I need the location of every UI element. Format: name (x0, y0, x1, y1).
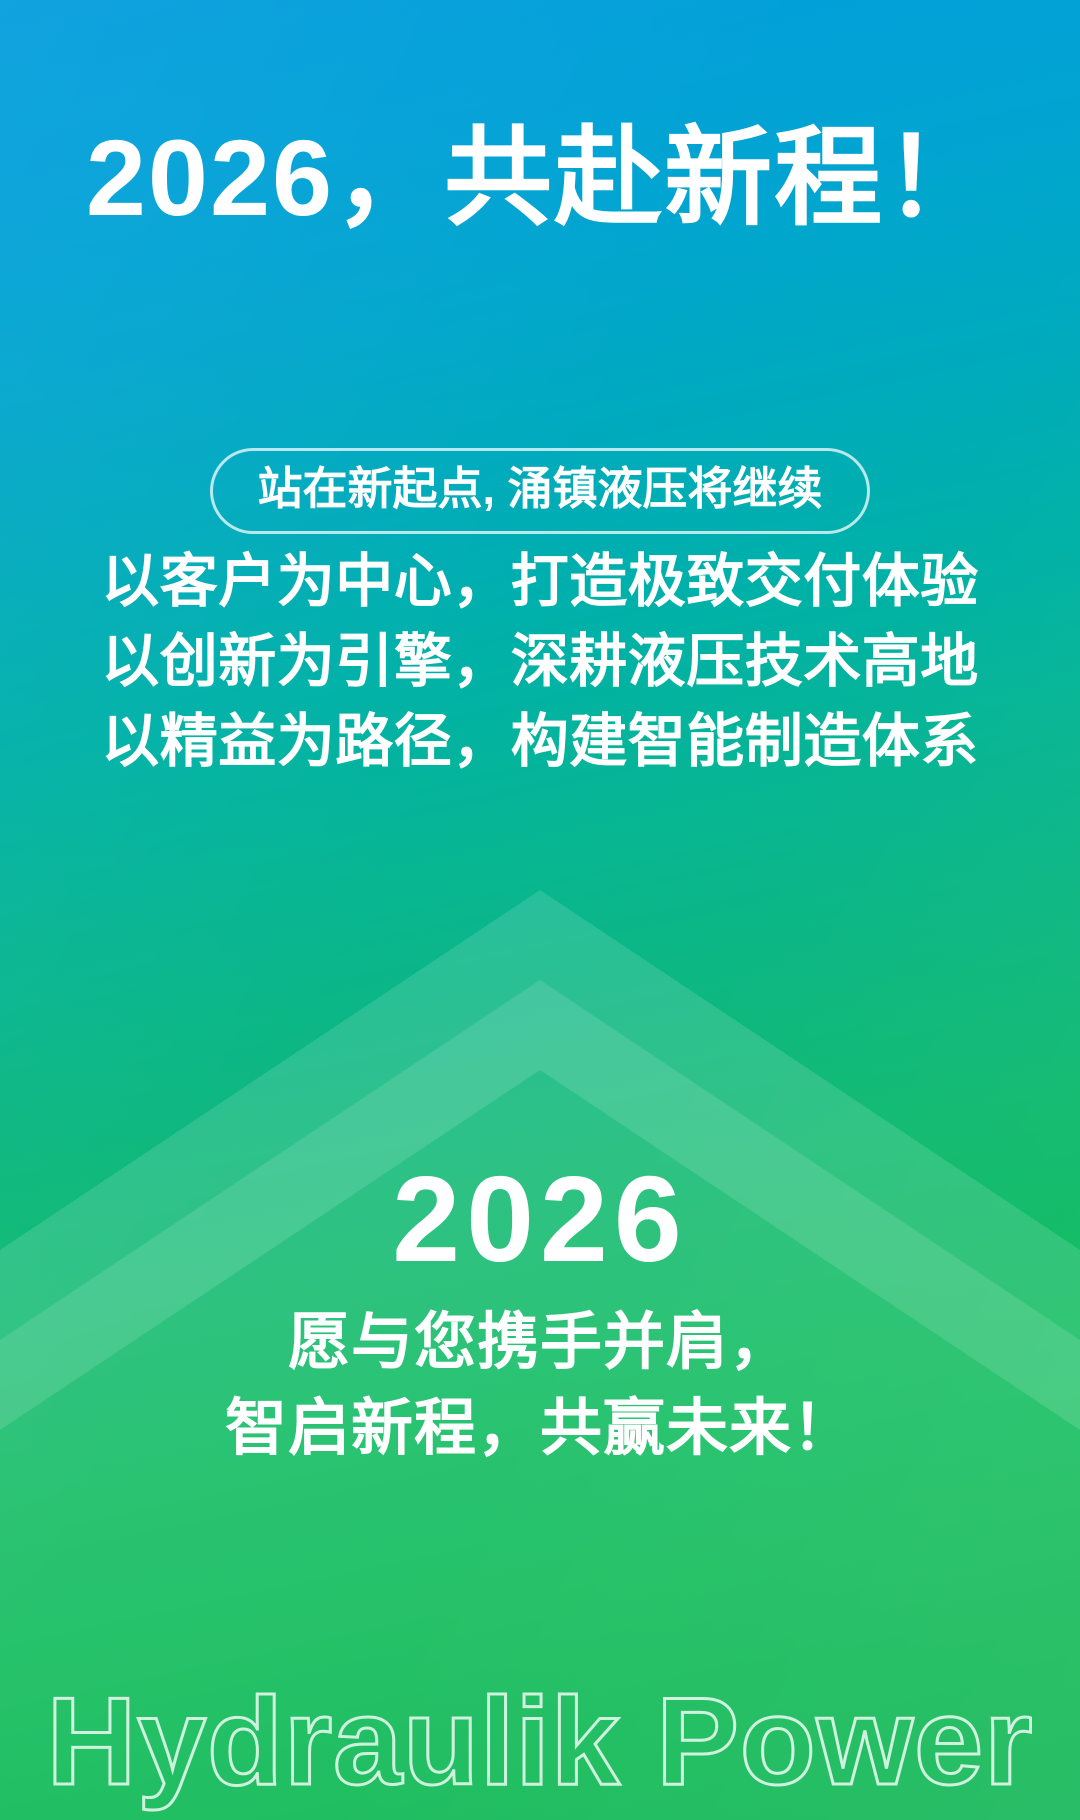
badge-container: 站在新起点, 涌镇液压将继续 (0, 448, 1080, 534)
chevron-decoration (0, 0, 1080, 1820)
page-title: 2026，共赴新程！ (0, 118, 1080, 239)
year-heading: 2026 (0, 1158, 1080, 1280)
tagline-item: 以创新为引擎，深耕液压技术高地 (0, 622, 1080, 702)
tagline-item: 以客户为中心，打造极致交付体验 (0, 542, 1080, 622)
wish-line: 智启新程，共赢未来！ (0, 1386, 1080, 1472)
poster-canvas: 2026，共赴新程！ 站在新起点, 涌镇液压将继续 以客户为中心，打造极致交付体… (0, 0, 1080, 1820)
tagline-list: 以客户为中心，打造极致交付体验 以创新为引擎，深耕液压技术高地 以精益为路径，构… (0, 542, 1080, 782)
wish-line: 愿与您携手并肩， (0, 1300, 1080, 1386)
status-badge: 站在新起点, 涌镇液压将继续 (210, 448, 869, 534)
tagline-item: 以精益为路径，构建智能制造体系 (0, 702, 1080, 782)
wish-list: 愿与您携手并肩， 智启新程，共赢未来！ (0, 1300, 1080, 1472)
gradient-sheen (0, 0, 1080, 1820)
brand-wordmark: Hydraulik Power (0, 1674, 1080, 1810)
